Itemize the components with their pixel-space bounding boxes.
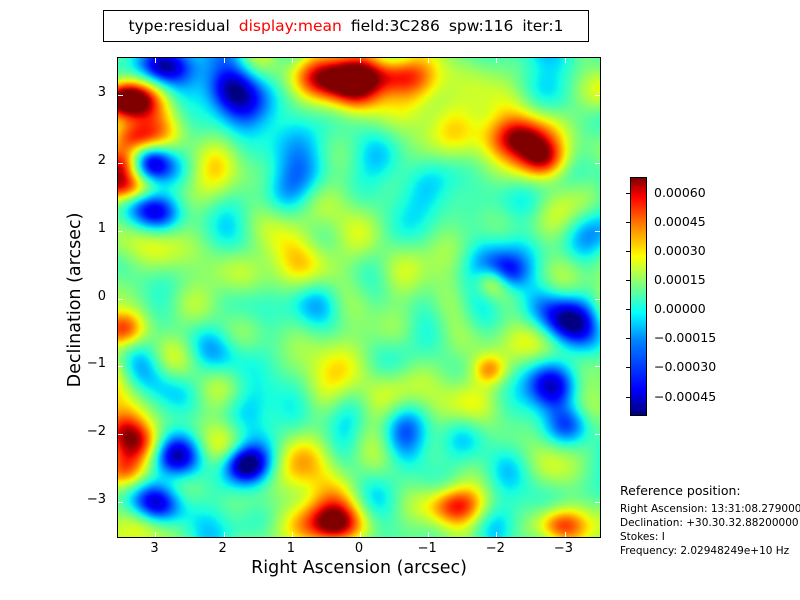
reference-position-frequency: Frequency: 2.02948249e+10 Hz (620, 544, 800, 558)
x-axis-tick (155, 532, 156, 537)
y-axis-tick-label: −2 (72, 424, 106, 439)
y-axis-tick (118, 299, 123, 300)
colorbar-tick (626, 280, 631, 281)
x-axis-tick-label: 2 (203, 541, 243, 556)
colorbar-tick (626, 397, 631, 398)
y-axis-tick-label: −3 (72, 492, 106, 507)
title-segment-iter: iter:1 (522, 17, 563, 35)
x-axis-tick-label: 1 (271, 541, 311, 556)
colorbar-tick-label: 0.00060 (654, 185, 706, 200)
colorbar-tick (626, 367, 631, 368)
y-axis-tick (595, 231, 600, 232)
x-axis-tick (292, 58, 293, 63)
colorbar-tick (626, 251, 631, 252)
y-axis-tick (595, 163, 600, 164)
colorbar-tick (626, 309, 631, 310)
colorbar-tick-label: 0.00015 (654, 272, 706, 287)
y-axis-tick (595, 299, 600, 300)
x-axis-tick (224, 532, 225, 537)
colorbar-tick-label: −0.00030 (654, 359, 716, 374)
colorbar-tick-label: 0.00045 (654, 214, 706, 229)
colorbar-tick-label: −0.00015 (654, 330, 716, 345)
x-axis-tick-label: 3 (134, 541, 174, 556)
y-axis-tick (118, 95, 123, 96)
reference-position-ra: Right Ascension: 13:31:08.27900000 (620, 502, 800, 516)
x-axis-tick-label: −1 (407, 541, 447, 556)
y-axis-tick (595, 502, 600, 503)
y-axis-tick-label: 2 (72, 153, 106, 168)
residual-heatmap-canvas (118, 58, 601, 538)
y-axis-tick-label: 3 (72, 85, 106, 100)
y-axis-tick (118, 231, 123, 232)
title-segment-display: display:mean (239, 17, 342, 35)
x-axis-tick-label: 0 (339, 541, 379, 556)
y-axis-tick-label: 0 (72, 289, 106, 304)
x-axis-tick (496, 532, 497, 537)
x-axis-tick (428, 532, 429, 537)
x-axis-tick-label: −3 (544, 541, 584, 556)
colorbar-tick (626, 193, 631, 194)
reference-position-block: Reference position: Right Ascension: 13:… (620, 483, 800, 558)
residual-image-plot[interactable] (117, 57, 601, 538)
reference-position-heading: Reference position: (620, 483, 800, 498)
colorbar-tick (626, 338, 631, 339)
x-axis-tick (565, 58, 566, 63)
x-axis-tick (496, 58, 497, 63)
y-axis-tick (595, 366, 600, 367)
status-title-bar: type:residual display:mean field:3C286 s… (103, 10, 589, 42)
x-axis-tick (565, 532, 566, 537)
y-axis-tick (118, 366, 123, 367)
x-axis-title: Right Ascension (arcsec) (117, 558, 601, 578)
y-axis-tick-label: 1 (72, 221, 106, 236)
x-axis-tick (155, 58, 156, 63)
x-axis-tick (360, 58, 361, 63)
x-axis-tick-label: −2 (475, 541, 515, 556)
title-segment-type: type:residual (129, 17, 230, 35)
y-axis-tick (595, 434, 600, 435)
x-axis-tick (428, 58, 429, 63)
x-axis-tick (360, 532, 361, 537)
reference-position-dec: Declination: +30.30.32.88200000 (620, 516, 800, 530)
title-segment-spw: spw:116 (449, 17, 514, 35)
colorbar-tick-label: 0.00030 (654, 243, 706, 258)
x-axis-tick (292, 532, 293, 537)
colorbar-tick-label: −0.00045 (654, 389, 716, 404)
colorbar-gradient (630, 177, 647, 416)
reference-position-stokes: Stokes: I (620, 530, 800, 544)
x-axis-tick (224, 58, 225, 63)
y-axis-tick-label: −1 (72, 356, 106, 371)
y-axis-tick (118, 163, 123, 164)
title-segment-field: field:3C286 (351, 17, 440, 35)
y-axis-tick (118, 434, 123, 435)
colorbar[interactable] (630, 177, 647, 416)
colorbar-tick (626, 222, 631, 223)
y-axis-tick (118, 502, 123, 503)
y-axis-tick (595, 95, 600, 96)
colorbar-tick-label: 0.00000 (654, 301, 706, 316)
